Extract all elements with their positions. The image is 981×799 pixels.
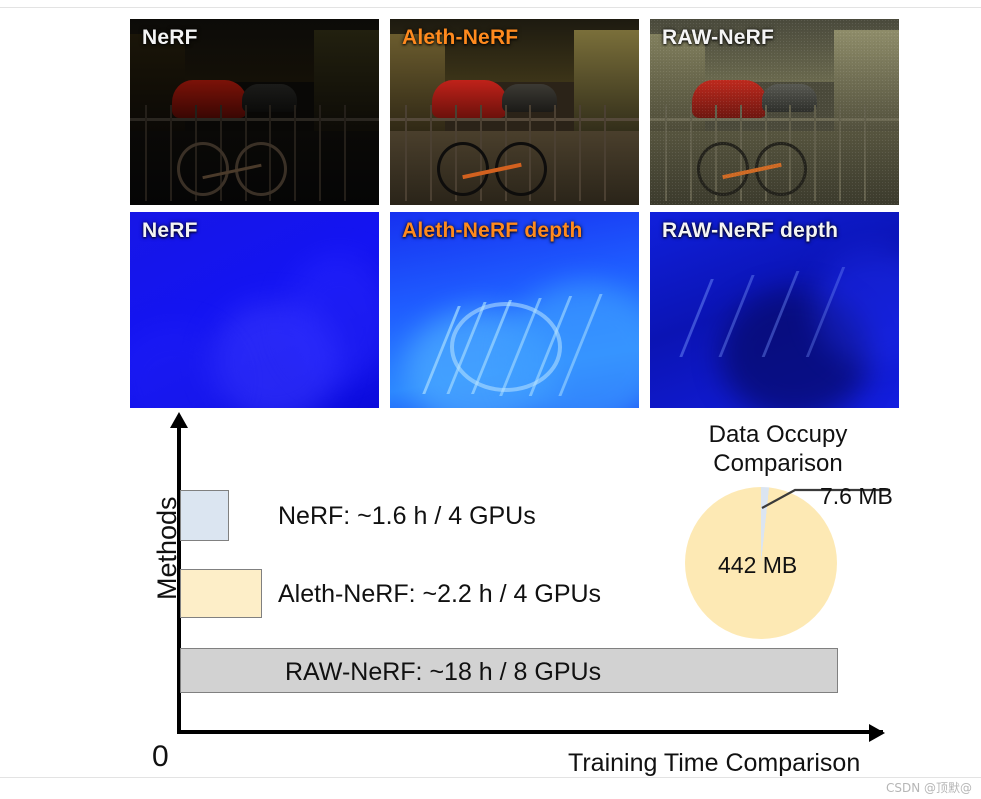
pie-title-line2: Comparison: [678, 449, 878, 478]
railing-bar: [294, 105, 296, 202]
panel-alethnerf-render: Aleth-NeRF: [390, 19, 639, 205]
x-axis-line: [177, 730, 883, 734]
panel-rawnerf-depth: RAW-NeRF depth: [650, 212, 899, 408]
bicycle-wheel: [697, 142, 749, 196]
pie-title-line1: Data Occupy: [678, 420, 878, 449]
railing-bar: [814, 105, 816, 202]
pie-callout-label: 7.6 MB: [820, 483, 893, 510]
depth-bicycle-wheel: [450, 302, 563, 392]
x-axis-arrowhead: [869, 724, 885, 742]
railing-bar: [319, 105, 321, 202]
panel-nerf-depth: NeRF: [130, 212, 379, 408]
scene-bicycle: [435, 110, 550, 199]
railing-bar: [690, 105, 692, 202]
bar-label-nerf: NeRF: ~1.6 h / 4 GPUs: [278, 502, 536, 531]
y-axis-title: Methods: [152, 496, 183, 600]
bar-nerf: [180, 490, 229, 541]
bottom-divider: [0, 777, 981, 778]
pie-chart-title: Data Occupy Comparison: [678, 420, 878, 479]
top-divider: [0, 7, 981, 8]
figure-canvas: NeRF: [0, 0, 981, 799]
panel-caption: NeRF: [142, 219, 198, 243]
railing-bar: [579, 105, 581, 202]
x-axis-title: Training Time Comparison: [568, 749, 860, 778]
railing-bar: [554, 105, 556, 202]
scene-bicycle: [175, 110, 290, 199]
panel-caption: RAW-NeRF: [662, 26, 774, 50]
railing-bar: [344, 105, 346, 202]
pie-slice-label-main: 442 MB: [718, 552, 797, 579]
railing-bar: [604, 105, 606, 202]
railing-bar: [430, 105, 432, 202]
panel-nerf-render: NeRF: [130, 19, 379, 205]
origin-label: 0: [152, 740, 169, 774]
bar-aleth-nerf: [180, 569, 262, 618]
bar-label-raw-nerf: RAW-NeRF: ~18 h / 8 GPUs: [285, 658, 601, 687]
railing-bar: [170, 105, 172, 202]
y-axis-arrowhead: [170, 412, 188, 428]
bicycle-wheel: [177, 142, 229, 196]
panel-alethnerf-depth: Aleth-NeRF depth: [390, 212, 639, 408]
bar-label-aleth-nerf: Aleth-NeRF: ~2.2 h / 4 GPUs: [278, 580, 601, 609]
watermark: CSDN @顶默@: [886, 779, 972, 796]
bicycle-wheel: [437, 142, 489, 196]
railing-bar: [405, 105, 407, 202]
panel-caption: Aleth-NeRF: [402, 26, 518, 50]
panel-caption: RAW-NeRF depth: [662, 219, 838, 243]
scene-bicycle: [695, 110, 810, 199]
depth-railing-streak: [679, 279, 714, 357]
railing-bar: [839, 105, 841, 202]
panel-caption: Aleth-NeRF depth: [402, 219, 583, 243]
railing-bar: [864, 105, 866, 202]
railing-bar: [665, 105, 667, 202]
panel-caption: NeRF: [142, 26, 198, 50]
panel-rawnerf-render: RAW-NeRF: [650, 19, 899, 205]
railing-bar: [145, 105, 147, 202]
